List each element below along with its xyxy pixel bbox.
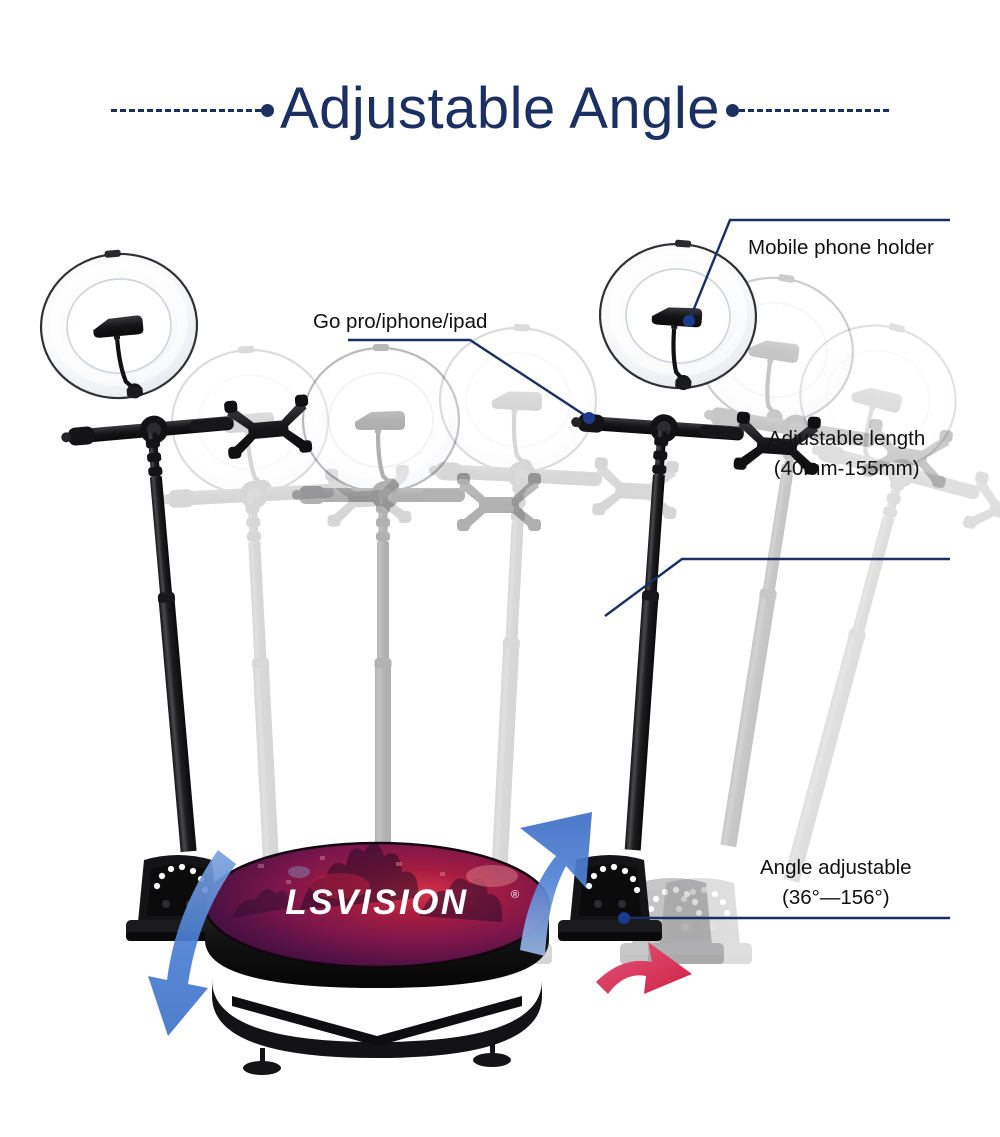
base-frame [212,980,542,1075]
infographic-page: Adjustable Angle [0,0,1000,1137]
callout-label: Mobile phone holder [748,236,934,259]
leader-dot-holder [683,315,695,327]
callout-adjustable-length: Adjustable length (40mm-155mm) [768,424,925,483]
product-illustration: LSVISION ® [0,150,1000,1137]
leader-dot-devices [583,412,595,424]
title-rule-left [111,109,261,112]
leader-dot-angle [618,912,630,924]
brand-wordmark: LSVISION [285,883,468,922]
callout-mobile-phone-holder: Mobile phone holder [748,233,934,263]
title-dot-left [261,104,274,117]
callout-label: Angle adjustable [760,856,912,879]
callout-sublabel: (36°—156°) [760,883,912,913]
title-dot-right [726,104,739,117]
title-rule-right [739,109,889,112]
turntable: LSVISION ® [205,843,549,1075]
callout-label: Go pro/iphone/ipad [313,310,487,333]
callout-angle-adjustable: Angle adjustable (36°—156°) [760,853,912,912]
callout-label: Adjustable length [768,427,925,450]
brand-trademark-mark: ® [511,889,519,901]
ring-light-left [35,243,203,406]
title-block: Adjustable Angle [0,64,1000,154]
page-title: Adjustable Angle [274,80,726,138]
callout-sublabel: (40mm-155mm) [768,454,925,484]
callout-go-pro-iphone-ipad: Go pro/iphone/ipad [313,307,487,337]
